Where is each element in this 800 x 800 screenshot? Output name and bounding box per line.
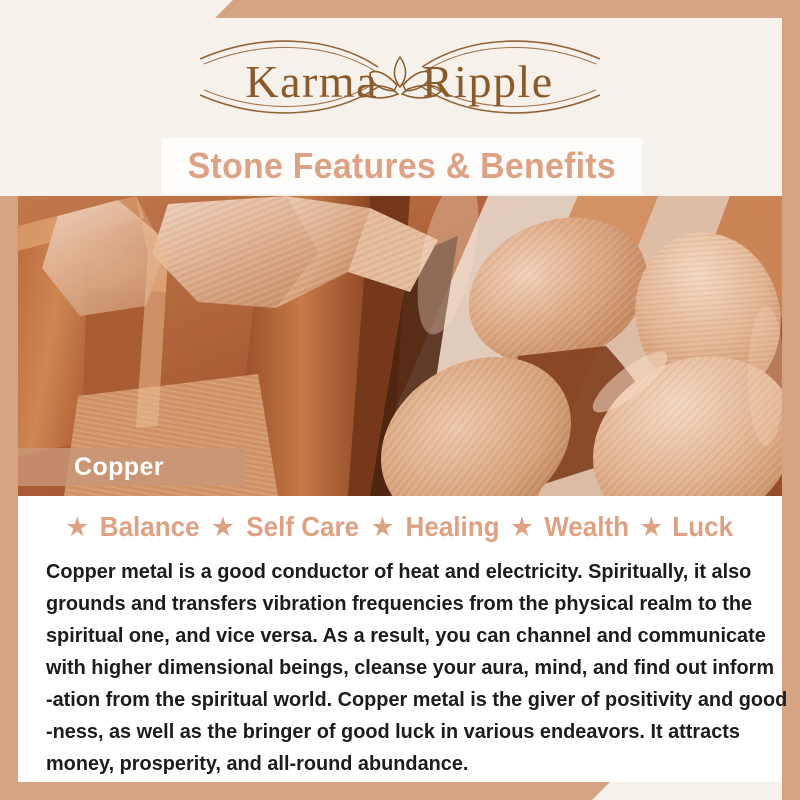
benefit-luck: Luck (670, 511, 736, 543)
description-line: Copper metal is a good conductor of heat… (46, 556, 733, 588)
benefit-self-care: Self Care (243, 511, 361, 543)
description-text: Copper metal is a good conductor of heat… (46, 556, 754, 780)
page-title: Stone Features & Benefits (188, 145, 616, 187)
description-line: money, prosperity, and all-round abundan… (46, 748, 733, 780)
logo-artwork: Karma Ripple (170, 25, 630, 129)
brand-logo: Karma Ripple (0, 22, 800, 132)
photo-caption-band: Copper (18, 448, 246, 486)
infographic-page: Karma Ripple Stone Features & Benefits (0, 0, 800, 800)
description-line: -ation from the spiritual world. Copper … (46, 684, 733, 716)
frame-band-left (0, 196, 18, 800)
benefit-wealth: Wealth (541, 511, 631, 543)
description-line: -ness, as well as the bringer of good lu… (46, 716, 733, 748)
photo-caption: Copper (18, 453, 164, 482)
description-line: spiritual one, and vice versa. As a resu… (46, 620, 733, 652)
star-icon: ★ (207, 514, 239, 541)
benefits-row: ★ Balance ★ Self Care ★ Healing ★ Wealth… (18, 496, 782, 550)
description-panel: ★ Balance ★ Self Care ★ Healing ★ Wealth… (18, 496, 782, 782)
brand-name-left: Karma (245, 56, 378, 107)
brand-name-right: Ripple (422, 56, 554, 107)
title-banner: Stone Features & Benefits (162, 138, 642, 194)
description-line: with higher dimensional beings, cleanse … (46, 652, 733, 684)
star-icon: ★ (635, 514, 667, 541)
description-line: grounds and transfers vibration frequenc… (46, 588, 733, 620)
star-icon: ★ (366, 514, 398, 541)
frame-band-top (215, 0, 800, 18)
frame-band-bottom (0, 782, 610, 800)
star-icon: ★ (506, 514, 538, 541)
star-icon: ★ (61, 514, 93, 541)
benefit-balance: Balance (97, 511, 202, 543)
benefit-healing: Healing (402, 511, 502, 543)
